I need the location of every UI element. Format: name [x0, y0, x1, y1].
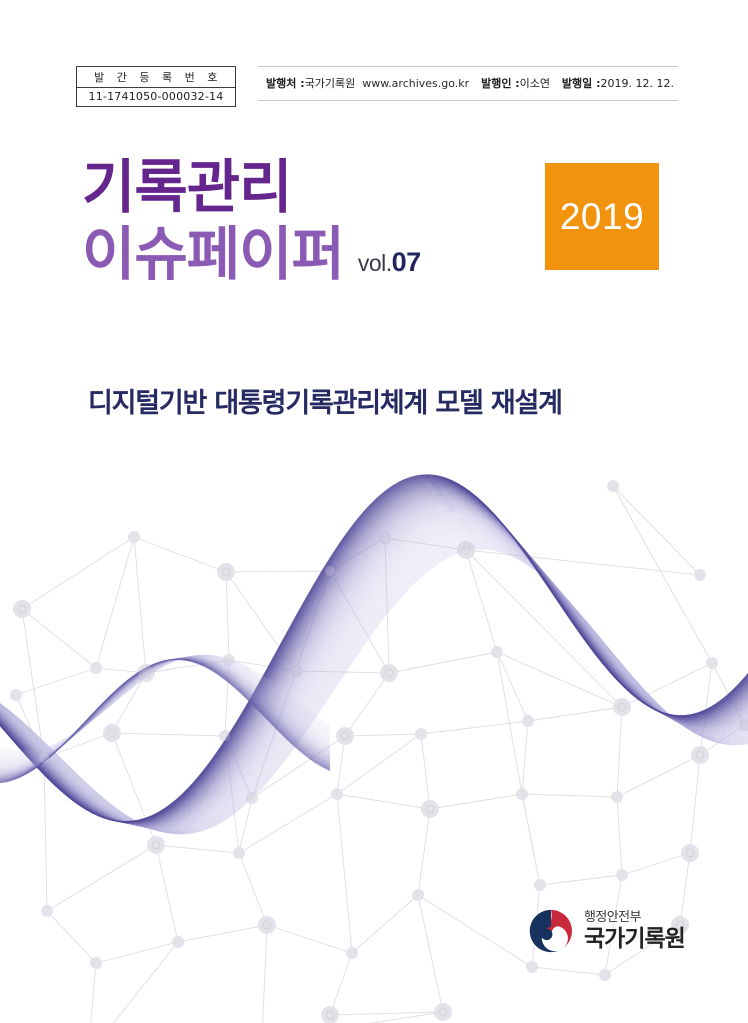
cover-header: 발 간 등 록 번 호 11-1741050-000032-14 발행처 : 국… — [0, 0, 748, 125]
government-logo: 행정안전부 국가기록원 — [527, 903, 685, 959]
title-line-1: 기록관리 — [82, 158, 421, 217]
issuer-value: 이소연 — [520, 75, 550, 91]
issuer-label: 발행인 : — [481, 75, 520, 91]
registration-number-box: 발 간 등 록 번 호 11-1741050-000032-14 — [76, 66, 236, 107]
title-line-2: 이슈페이퍼 — [82, 225, 344, 284]
volume-word: vol. — [358, 250, 392, 276]
wave-ribbon — [0, 475, 748, 834]
title-line-2-row: 이슈페이퍼 vol.07 — [82, 225, 421, 284]
publisher-info: 발행처 : 국가기록원 www.archives.go.kr 발행인 : 이소연… — [258, 66, 678, 101]
cover-page: 발 간 등 록 번 호 11-1741050-000032-14 발행처 : 국… — [0, 0, 748, 1023]
publisher-label: 발행처 : — [266, 75, 305, 91]
cover-subtitle: 디지털기반 대통령기록관리체계 모델 재설계 — [88, 381, 688, 420]
logo-text: 행정안전부 국가기록원 — [584, 911, 685, 951]
publisher-rule-bottom — [258, 100, 678, 101]
publisher-line: 발행처 : 국가기록원 www.archives.go.kr 발행인 : 이소연… — [258, 67, 678, 100]
registration-label: 발 간 등 록 번 호 — [77, 67, 235, 88]
volume-label: vol.07 — [358, 247, 421, 284]
publisher-value: 국가기록원 — [305, 75, 356, 91]
issue-date-label: 발행일 : — [562, 75, 601, 91]
title-block: 기록관리 이슈페이퍼 vol.07 — [82, 158, 421, 284]
agency-name: 국가기록원 — [584, 928, 685, 951]
ministry-name: 행정안전부 — [584, 911, 685, 924]
year-badge: 2019 — [545, 163, 659, 270]
issue-date-value: 2019. 12. 12. — [601, 77, 674, 90]
volume-number: 07 — [392, 247, 421, 277]
publisher-url[interactable]: www.archives.go.kr — [362, 77, 469, 90]
registration-number: 11-1741050-000032-14 — [77, 88, 235, 106]
year-text: 2019 — [560, 196, 644, 238]
taegeuk-mark — [527, 907, 575, 955]
